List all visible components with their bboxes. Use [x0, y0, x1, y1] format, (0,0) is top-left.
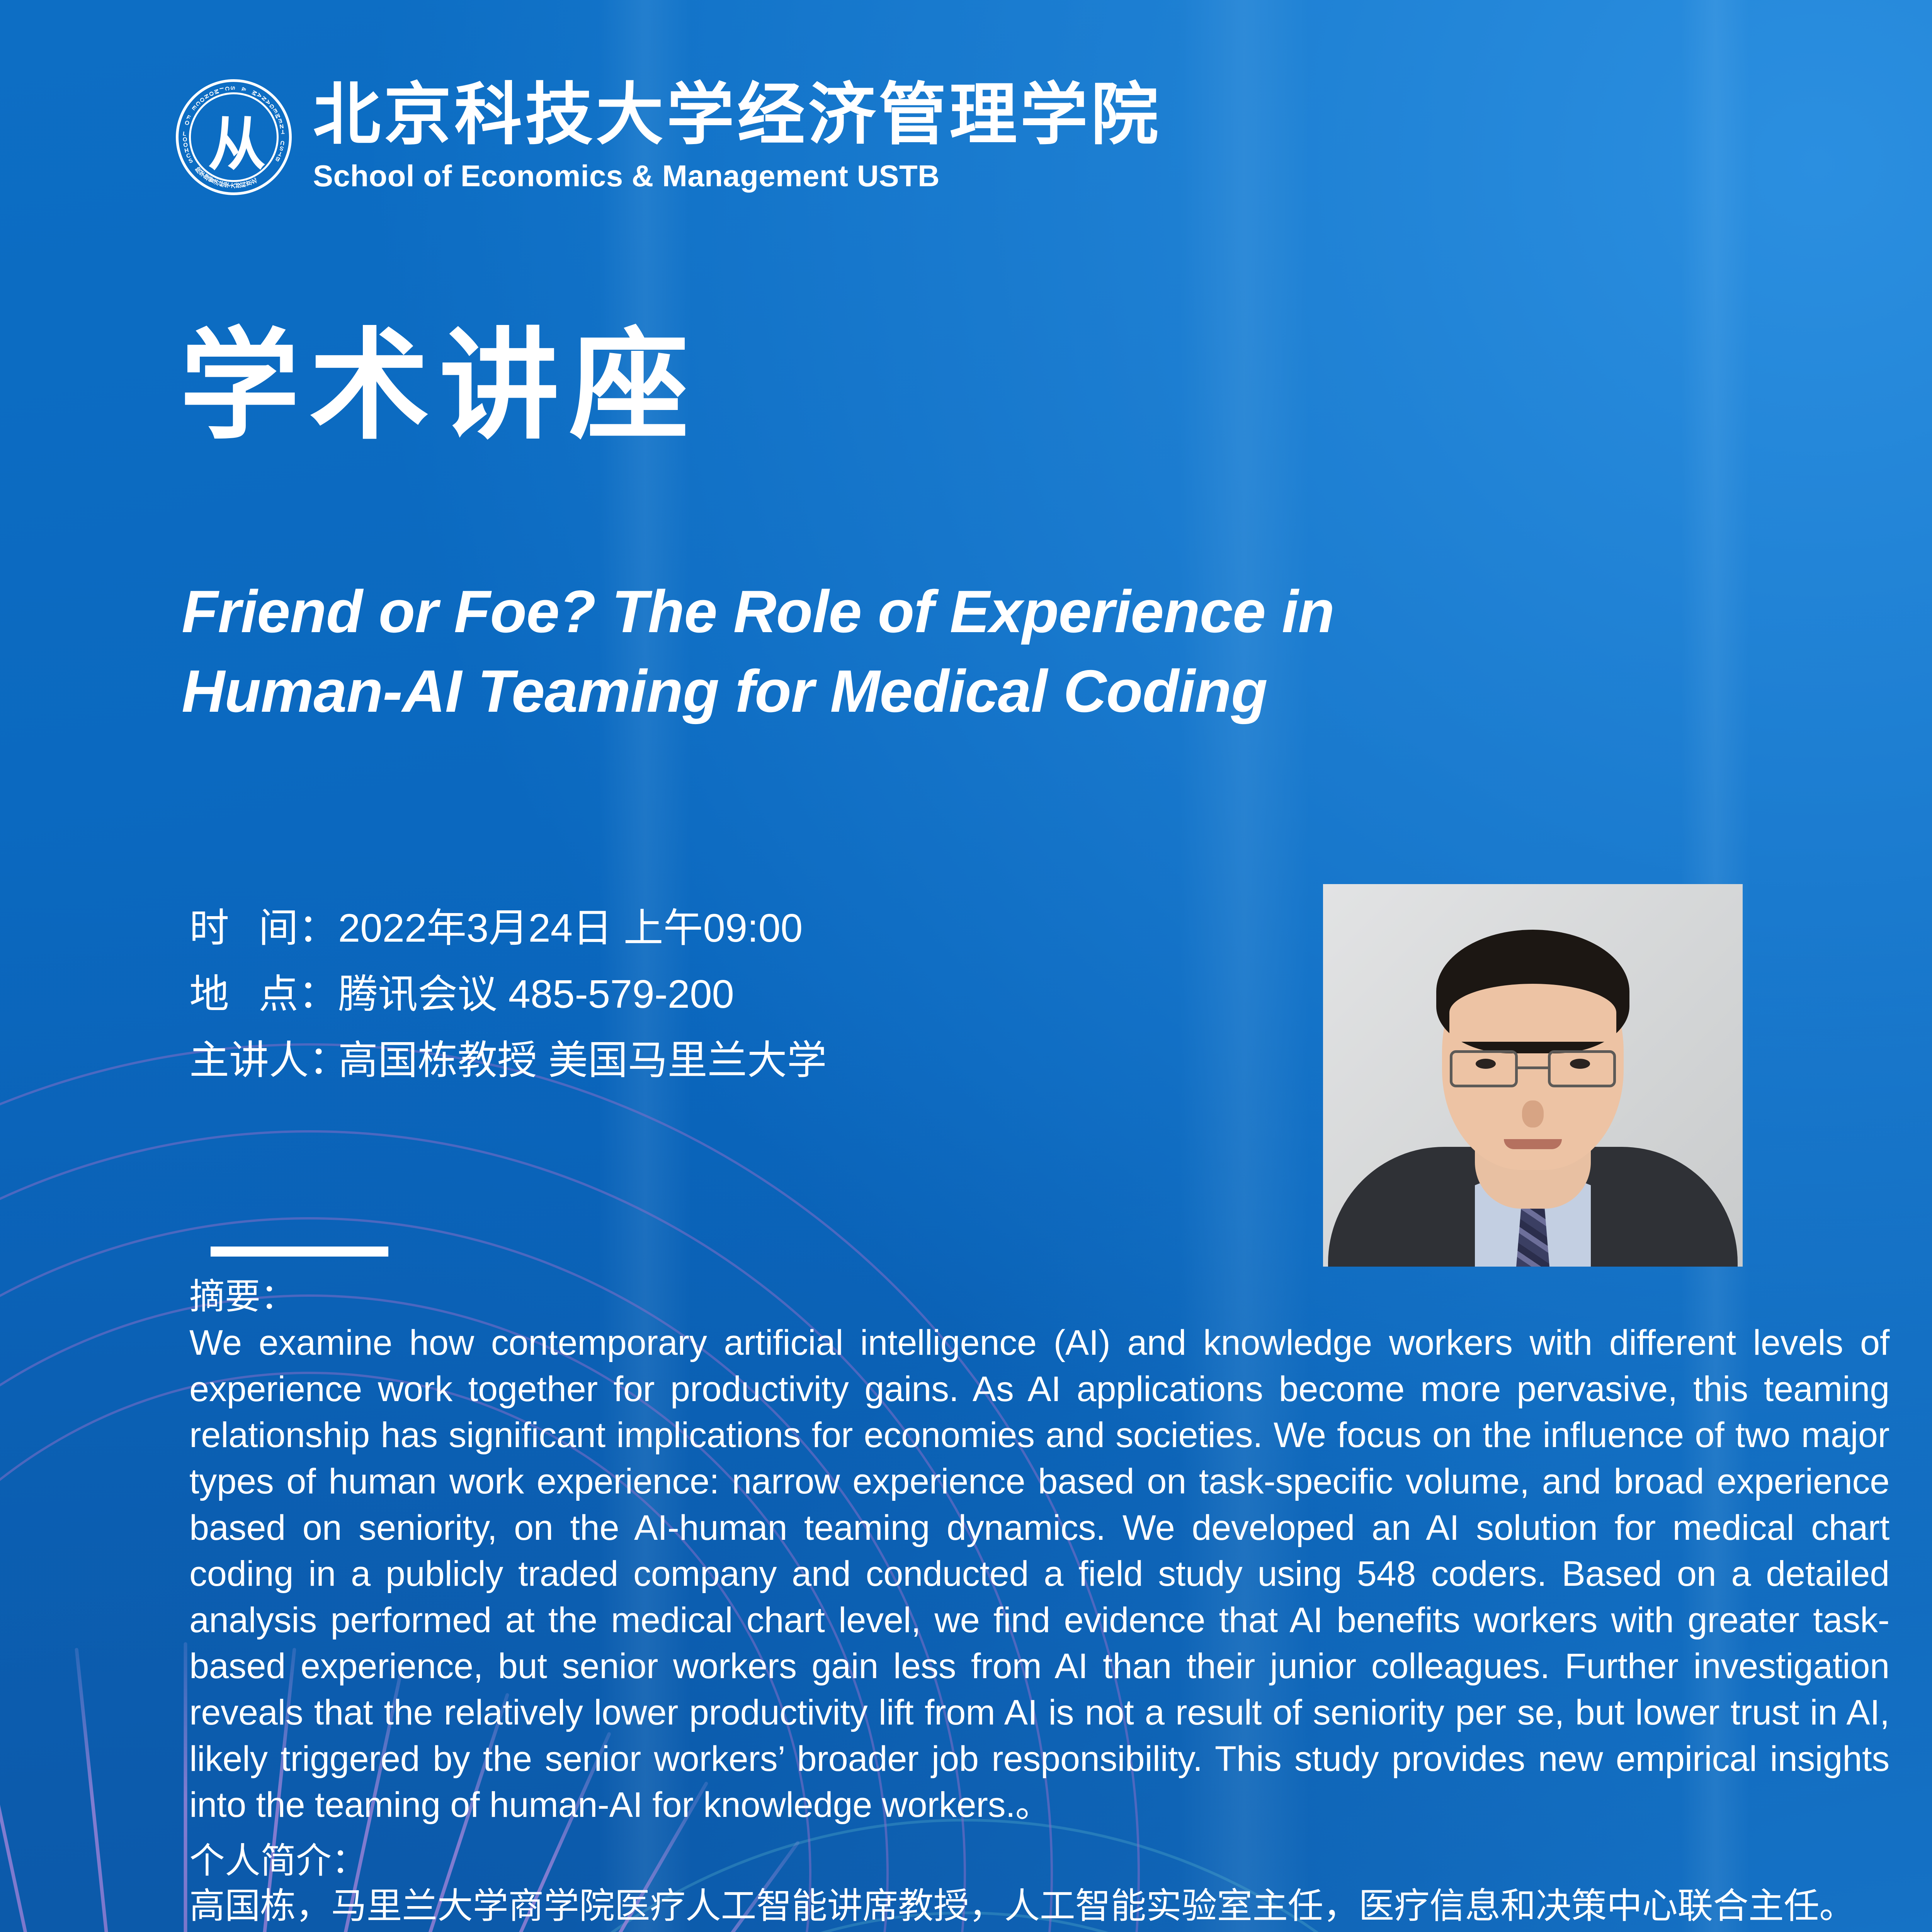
- abstract-label: 摘要：: [189, 1275, 1889, 1318]
- time-label-b: 间：: [259, 908, 338, 948]
- time-value: 2022年3月24日 上午09:00: [338, 908, 803, 948]
- school-name-en: School of Economics & Management USTB: [313, 158, 1162, 194]
- time-row: 时 间： 2022年3月24日 上午09:00: [189, 908, 827, 948]
- place-value: 腾讯会议 485-579-200: [338, 974, 734, 1014]
- school-seal-icon: 从 北京科技大学经济管理学院 SCHOOL OF ECONOMICS & MAN…: [176, 79, 292, 195]
- lecture-title-line2: Human-AI Teaming for Medical Coding: [182, 651, 1901, 731]
- bio-label: 个人简介：: [189, 1839, 1889, 1883]
- school-name-cn: 北京科技大学经济管理学院: [313, 81, 1162, 148]
- lecture-poster: 母校留念 鋼鐵搖籃 从 北京科技大学经济管理学院 SCHOOL OF ECONO…: [0, 0, 1932, 1932]
- place-label-b: 点：: [259, 974, 338, 1014]
- place-label-a: 地: [189, 974, 229, 1014]
- bio-text: 高国栋，马里兰大学商学院医疗人工智能讲席教授，人工智能实验室主任，医疗信息和决策…: [189, 1883, 1889, 1932]
- abstract-text: We examine how contemporary artificial i…: [189, 1320, 1889, 1828]
- section-divider: [211, 1247, 388, 1257]
- speaker-value: 高国栋教授 美国马里兰大学: [338, 1040, 827, 1080]
- event-details: 时 间： 2022年3月24日 上午09:00 地 点： 腾讯会议 485-57…: [189, 908, 827, 1106]
- speaker-portrait: [1323, 884, 1743, 1267]
- speaker-label-c: 人：: [269, 1040, 349, 1080]
- poster-body: 摘要： We examine how contemporary artifici…: [189, 1275, 1889, 1932]
- page-title: 学术讲座: [180, 327, 699, 446]
- school-logo: 从 北京科技大学经济管理学院 SCHOOL OF ECONOMICS & MAN…: [176, 79, 1162, 195]
- speaker-label-a: 主: [189, 1040, 229, 1080]
- place-row: 地 点： 腾讯会议 485-579-200: [189, 974, 827, 1014]
- lecture-title: Friend or Foe? The Role of Experience in…: [182, 572, 1901, 731]
- speaker-row: 主 讲 人： 高国栋教授 美国马里兰大学: [189, 1040, 827, 1080]
- lecture-title-line1: Friend or Foe? The Role of Experience in: [182, 572, 1901, 651]
- speaker-label-b: 讲: [229, 1040, 269, 1080]
- time-label-a: 时: [189, 908, 229, 948]
